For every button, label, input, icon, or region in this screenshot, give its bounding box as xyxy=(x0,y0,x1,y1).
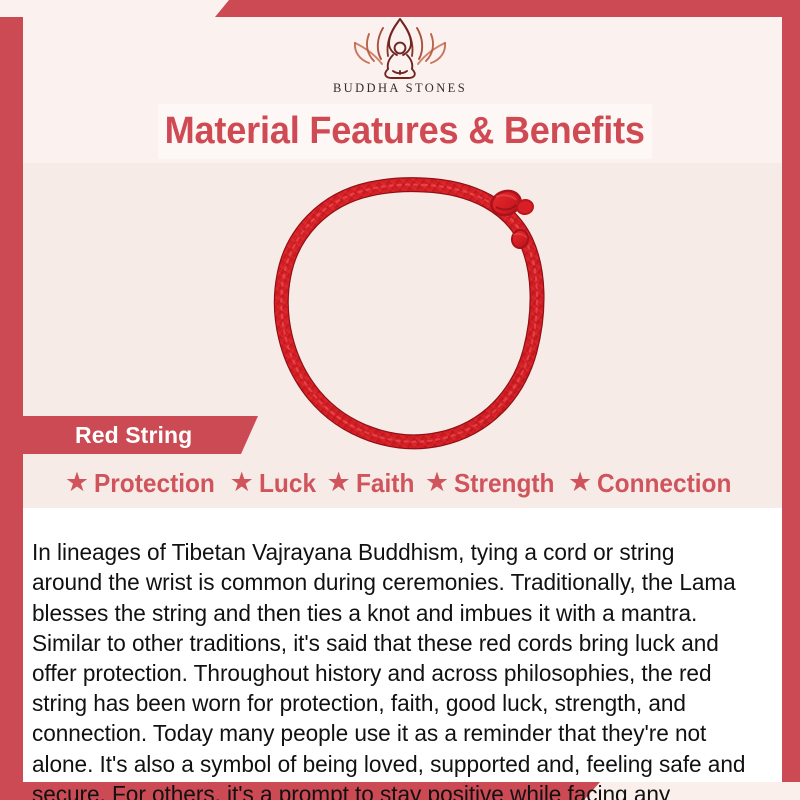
description-panel: In lineages of Tibetan Vajrayana Buddhis… xyxy=(23,508,782,782)
benefits-list: ★ Protection ★ Luck ★ Faith ★ Strength ★… xyxy=(23,462,782,504)
brand-logo: BUDDHA STONES xyxy=(0,14,800,96)
benefit-item-luck: ★ Luck xyxy=(230,468,320,499)
brand-name: BUDDHA STONES xyxy=(333,81,467,96)
frame-bar-left xyxy=(0,17,23,782)
description-text: In lineages of Tibetan Vajrayana Buddhis… xyxy=(32,537,750,800)
benefit-item-connection: ★ Connection xyxy=(568,468,740,499)
red-string-bracelet-illustration xyxy=(258,163,578,463)
title-plate: Material Features & Benefits xyxy=(158,104,652,159)
infographic-card: BUDDHA STONES Material Features & Benefi… xyxy=(0,0,800,800)
benefit-label: Protection xyxy=(94,468,215,499)
material-banner: Red String xyxy=(23,416,258,454)
star-icon: ★ xyxy=(568,469,592,496)
page-title: Material Features & Benefits xyxy=(165,110,645,153)
benefit-label: Connection xyxy=(597,468,731,499)
benefit-label: Strength xyxy=(454,468,554,499)
benefit-label: Luck xyxy=(259,468,316,499)
benefit-item-faith: ★ Faith xyxy=(327,468,418,499)
star-icon: ★ xyxy=(425,469,449,496)
benefit-label: Faith xyxy=(356,468,414,499)
product-image xyxy=(258,163,578,463)
material-banner-label: Red String xyxy=(75,422,192,449)
star-icon: ★ xyxy=(327,469,351,496)
benefit-item-strength: ★ Strength xyxy=(425,468,561,499)
frame-bar-right xyxy=(782,17,800,782)
star-icon: ★ xyxy=(230,469,254,496)
lotus-meditation-icon xyxy=(336,14,464,80)
benefit-item-protection: ★ Protection xyxy=(65,468,223,499)
star-icon: ★ xyxy=(65,469,89,496)
